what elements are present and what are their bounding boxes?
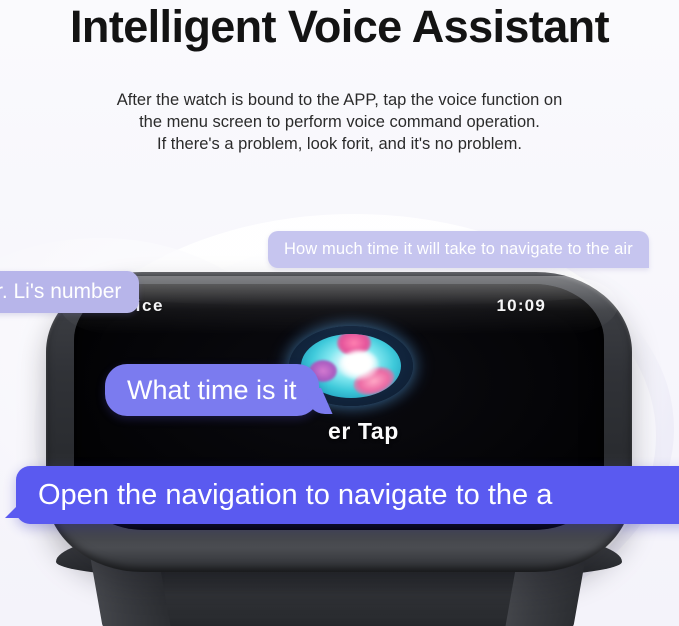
product-banner: Intelligent Voice Assistant After the wa… <box>0 0 679 626</box>
subtitle-line-3: If there's a problem, look forit, and it… <box>0 133 679 155</box>
chat-bubble-how-much-time[interactable]: How much time it will take to navigate t… <box>268 231 649 268</box>
subtitle-line-1: After the watch is bound to the APP, tap… <box>0 89 679 111</box>
chat-bubble-open-navigation[interactable]: Open the navigation to navigate to the a <box>16 466 679 524</box>
page-title: Intelligent Voice Assistant <box>0 0 679 53</box>
smartwatch: Voice 10:09 er Tap <box>46 272 632 572</box>
screen-clock: 10:09 <box>497 296 546 316</box>
page-subtitle: After the watch is bound to the APP, tap… <box>0 53 679 155</box>
orb-highlight <box>339 350 379 380</box>
chat-bubble-li-number[interactable]: r. Li's number <box>0 271 139 313</box>
screen-hint-text: er Tap <box>328 418 399 445</box>
chat-bubble-what-time[interactable]: What time is it <box>105 364 319 416</box>
header: Intelligent Voice Assistant After the wa… <box>0 0 679 155</box>
subtitle-line-2: the menu screen to perform voice command… <box>0 111 679 133</box>
